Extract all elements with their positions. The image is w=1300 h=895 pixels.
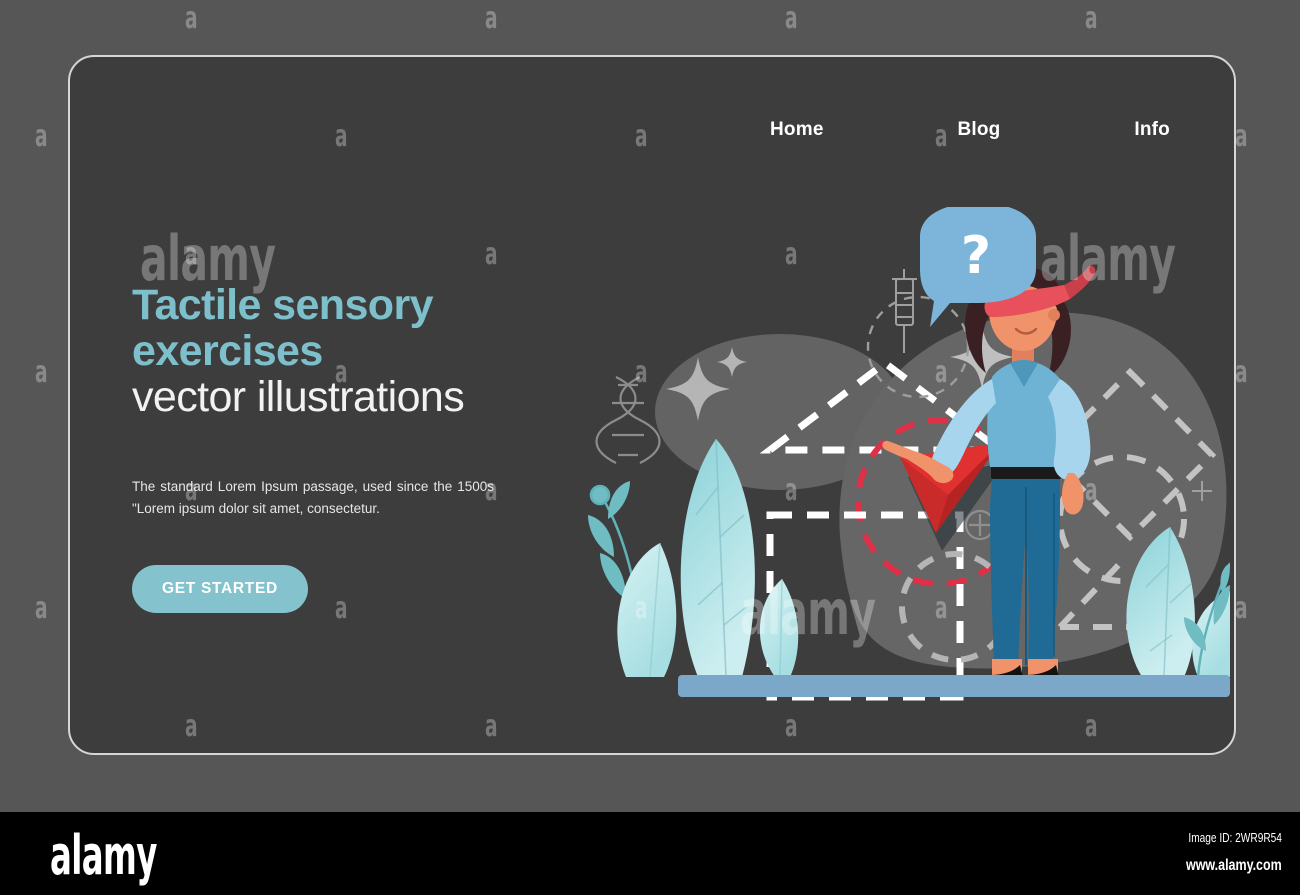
plus-circle-icon [966,511,994,539]
question-mark-symbol: ? [961,226,991,286]
get-started-button[interactable]: GET STARTED [132,565,308,613]
site-url-label: www.alamy.com [1186,857,1282,875]
hero-body-text: The standard Lorem Ipsum passage, used s… [132,476,494,521]
dna-helix-icon [597,377,660,463]
watermark-letter: a [1235,122,1248,152]
watermark-letter: a [1235,594,1248,624]
watermark-letter: a [35,358,48,388]
watermark-letter: a [485,4,498,34]
headline-line-3: vector illustrations [132,374,552,420]
screenshot-stage: a a a a a a a a a a a alamy alamy a a a … [0,0,1300,895]
headline-line-1: Tactile sensory [132,282,552,328]
watermark-letter: a [35,122,48,152]
nav-item-info[interactable]: Info [1134,119,1170,141]
watermark-letter: a [785,4,798,34]
main-navigation: Home Blog Info [770,119,1170,141]
watermark-letter: a [185,4,198,34]
hero-illustration: ? [530,207,1230,707]
syringe-icon [892,269,917,353]
platform-floor [678,675,1230,697]
alamy-logo: alamy [50,829,157,883]
hero-copy-column: Tactile sensory exercises vector illustr… [132,282,552,613]
alamy-footer-bar: alamy Image ID: 2WR9R54 www.alamy.com [0,812,1300,895]
nav-item-blog[interactable]: Blog [957,119,1000,141]
headline-line-2: exercises [132,328,552,374]
watermark-letter: a [35,594,48,624]
nav-item-home[interactable]: Home [770,119,824,141]
watermark-letter: a [1085,4,1098,34]
landing-page-card: Home Blog Info Tactile sensory exercises… [68,55,1236,755]
page-title: Tactile sensory exercises vector illustr… [132,282,552,420]
image-id-label: Image ID: 2WR9R54 [1188,830,1282,845]
watermark-letter: a [1235,358,1248,388]
